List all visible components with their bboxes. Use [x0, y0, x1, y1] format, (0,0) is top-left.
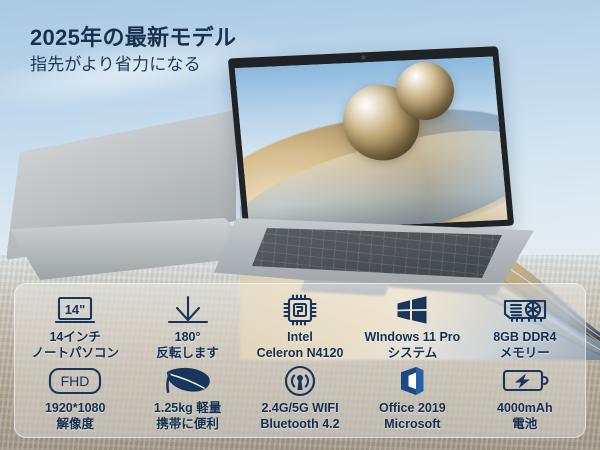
spec-item-battery: 4000mAh 電池 [469, 361, 581, 432]
spec-label-screen-size: 14インチ ノートパソコン [31, 329, 119, 361]
spec-line1: 4000mAh [497, 401, 553, 415]
spec-line2: 解像度 [45, 416, 105, 432]
spec-line2: Celeron N4120 [257, 345, 344, 361]
windows-logo-icon [395, 293, 429, 327]
spec-line2: 反転します [156, 345, 219, 361]
product-banner: 2025年の最新モデル 指先がより省力になる 14" 14インチ ノートパソコン [0, 0, 600, 450]
spec-item-os: WIndows 11 Pro システム [356, 290, 468, 361]
spec-line2: 携帯に便利 [154, 416, 221, 432]
monitor-icon-label: 14" [65, 302, 86, 317]
spec-label-resolution: 1920*1080 解像度 [45, 400, 105, 432]
feather-lightweight-icon [163, 364, 213, 398]
spec-line2: メモリー [493, 345, 556, 361]
spec-item-resolution: FHD 1920*1080 解像度 [19, 361, 131, 432]
spec-item-office: Office 2019 Microsoft [356, 361, 468, 432]
spec-line1: 2.4G/5G WIFI [261, 401, 338, 415]
hinge-180-arrow-icon [165, 293, 211, 327]
spec-label-weight: 1.25kg 軽量 携帯に便利 [154, 400, 221, 432]
spec-label-memory: 8GB DDR4 メモリー [493, 329, 556, 361]
spec-line1: Intel [287, 330, 313, 344]
front-laptop-screen [228, 46, 514, 238]
page-subtitle: 指先がより省力になる [30, 50, 201, 75]
spec-line1: 8GB DDR4 [493, 330, 556, 344]
spec-line2: Bluetooth 4.2 [260, 416, 339, 432]
spec-line1: 1.25kg 軽量 [154, 401, 221, 415]
spec-item-hinge: 180° 反転します [131, 290, 243, 361]
fhd-icon-label: FHD [61, 373, 90, 389]
spec-item-cpu: Intel Celeron N4120 [244, 290, 356, 361]
spec-item-screen-size: 14" 14インチ ノートパソコン [19, 290, 131, 361]
spec-line1: Office 2019 [379, 401, 446, 415]
spec-panel: 14" 14インチ ノートパソコン 180° [14, 283, 586, 438]
webcam-icon [361, 55, 365, 59]
fhd-badge-icon: FHD [47, 364, 103, 398]
ram-module-icon [502, 293, 548, 327]
battery-charging-icon [501, 364, 549, 398]
spec-line2: システム [364, 345, 460, 361]
page-title: 2025年の最新モデル [30, 20, 236, 52]
wifi-signal-icon [283, 364, 317, 398]
spec-label-battery: 4000mAh 電池 [497, 400, 553, 432]
monitor-14inch-icon: 14" [55, 293, 95, 327]
spec-label-office: Office 2019 Microsoft [379, 400, 446, 432]
spec-line1: 180° [175, 330, 201, 344]
spec-item-weight: 1.25kg 軽量 携帯に便利 [131, 361, 243, 432]
screen-wallpaper [235, 56, 508, 231]
spec-line2: Microsoft [379, 416, 446, 432]
spec-line1: WIndows 11 Pro [364, 330, 460, 344]
spec-item-wireless: 2.4G/5G WIFI Bluetooth 4.2 [244, 361, 356, 432]
spec-label-os: WIndows 11 Pro システム [364, 329, 460, 361]
office-logo-icon [397, 364, 427, 398]
spec-line1: 14インチ [49, 330, 100, 344]
spec-line1: 1920*1080 [45, 401, 105, 415]
spec-label-hinge: 180° 反転します [156, 329, 219, 361]
chrome-sphere-floating [396, 62, 454, 120]
spec-item-memory: 8GB DDR4 メモリー [469, 290, 581, 361]
cpu-chip-icon [283, 293, 317, 327]
spec-line2: ノートパソコン [31, 345, 119, 361]
spec-line2: 電池 [497, 416, 553, 432]
spec-label-wireless: 2.4G/5G WIFI Bluetooth 4.2 [260, 400, 339, 432]
spec-label-cpu: Intel Celeron N4120 [257, 329, 344, 361]
